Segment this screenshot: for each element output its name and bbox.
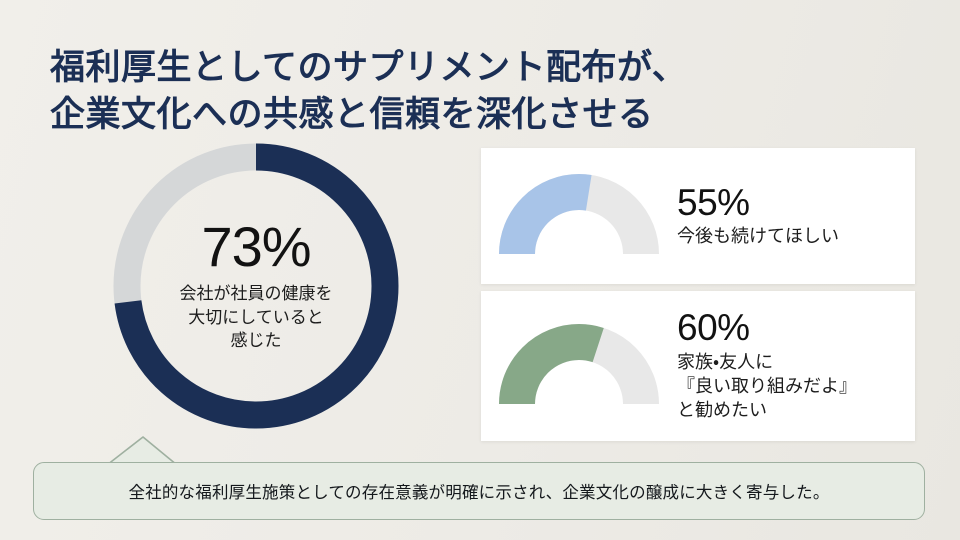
callout-text: 全社的な福利厚生施策としての存在意義が明確に示され、企業文化の醸成に大きく寄与し… — [128, 479, 829, 503]
stat-card-recommend-label-line-1: 家族・友人に — [677, 350, 905, 374]
callout-banner: 全社的な福利厚生施策としての存在意義が明確に示され、企業文化の醸成に大きく寄与し… — [33, 462, 925, 520]
page-title: 福利厚生としてのサプリメント配布が、 企業文化への共感と信頼を深化させる — [50, 45, 910, 139]
stat-card-recommend-text: 60% 家族・友人に 『良い取り組みだよ』 と勧めたい — [677, 309, 915, 422]
gauge-chart-60 — [481, 320, 677, 412]
stat-card-continue[interactable]: 55% 今後も続けてほしい — [481, 148, 915, 284]
gauge-chart-55 — [481, 170, 677, 262]
donut-chart-svg — [113, 143, 399, 429]
page-title-line-1: 福利厚生としてのサプリメント配布が、 — [50, 45, 910, 92]
stat-card-continue-label: 今後も続けてほしい — [677, 224, 905, 248]
gauge-chart-60-svg — [495, 320, 663, 412]
stat-card-recommend-label-line-3: と勧めたい — [677, 398, 905, 422]
stat-card-recommend-value: 60% — [677, 309, 905, 347]
page-title-line-2: 企業文化への共感と信頼を深化させる — [50, 92, 910, 139]
slide-canvas: 福利厚生としてのサプリメント配布が、 企業文化への共感と信頼を深化させる 73%… — [0, 0, 960, 540]
stat-card-continue-text: 55% 今後も続けてほしい — [677, 184, 915, 249]
stat-card-continue-value: 55% — [677, 184, 905, 222]
stat-card-recommend[interactable]: 60% 家族・友人に 『良い取り組みだよ』 と勧めたい — [481, 291, 915, 441]
stat-card-recommend-label-line-2: 『良い取り組みだよ』 — [677, 374, 905, 398]
stat-card-continue-label-line-1: 今後も続けてほしい — [677, 224, 905, 248]
gauge-chart-55-svg — [495, 170, 663, 262]
donut-chart: 73% 会社が社員の健康を 大切にしていると 感じた — [113, 143, 399, 429]
stat-card-recommend-label: 家族・友人に 『良い取り組みだよ』 と勧めたい — [677, 350, 905, 422]
